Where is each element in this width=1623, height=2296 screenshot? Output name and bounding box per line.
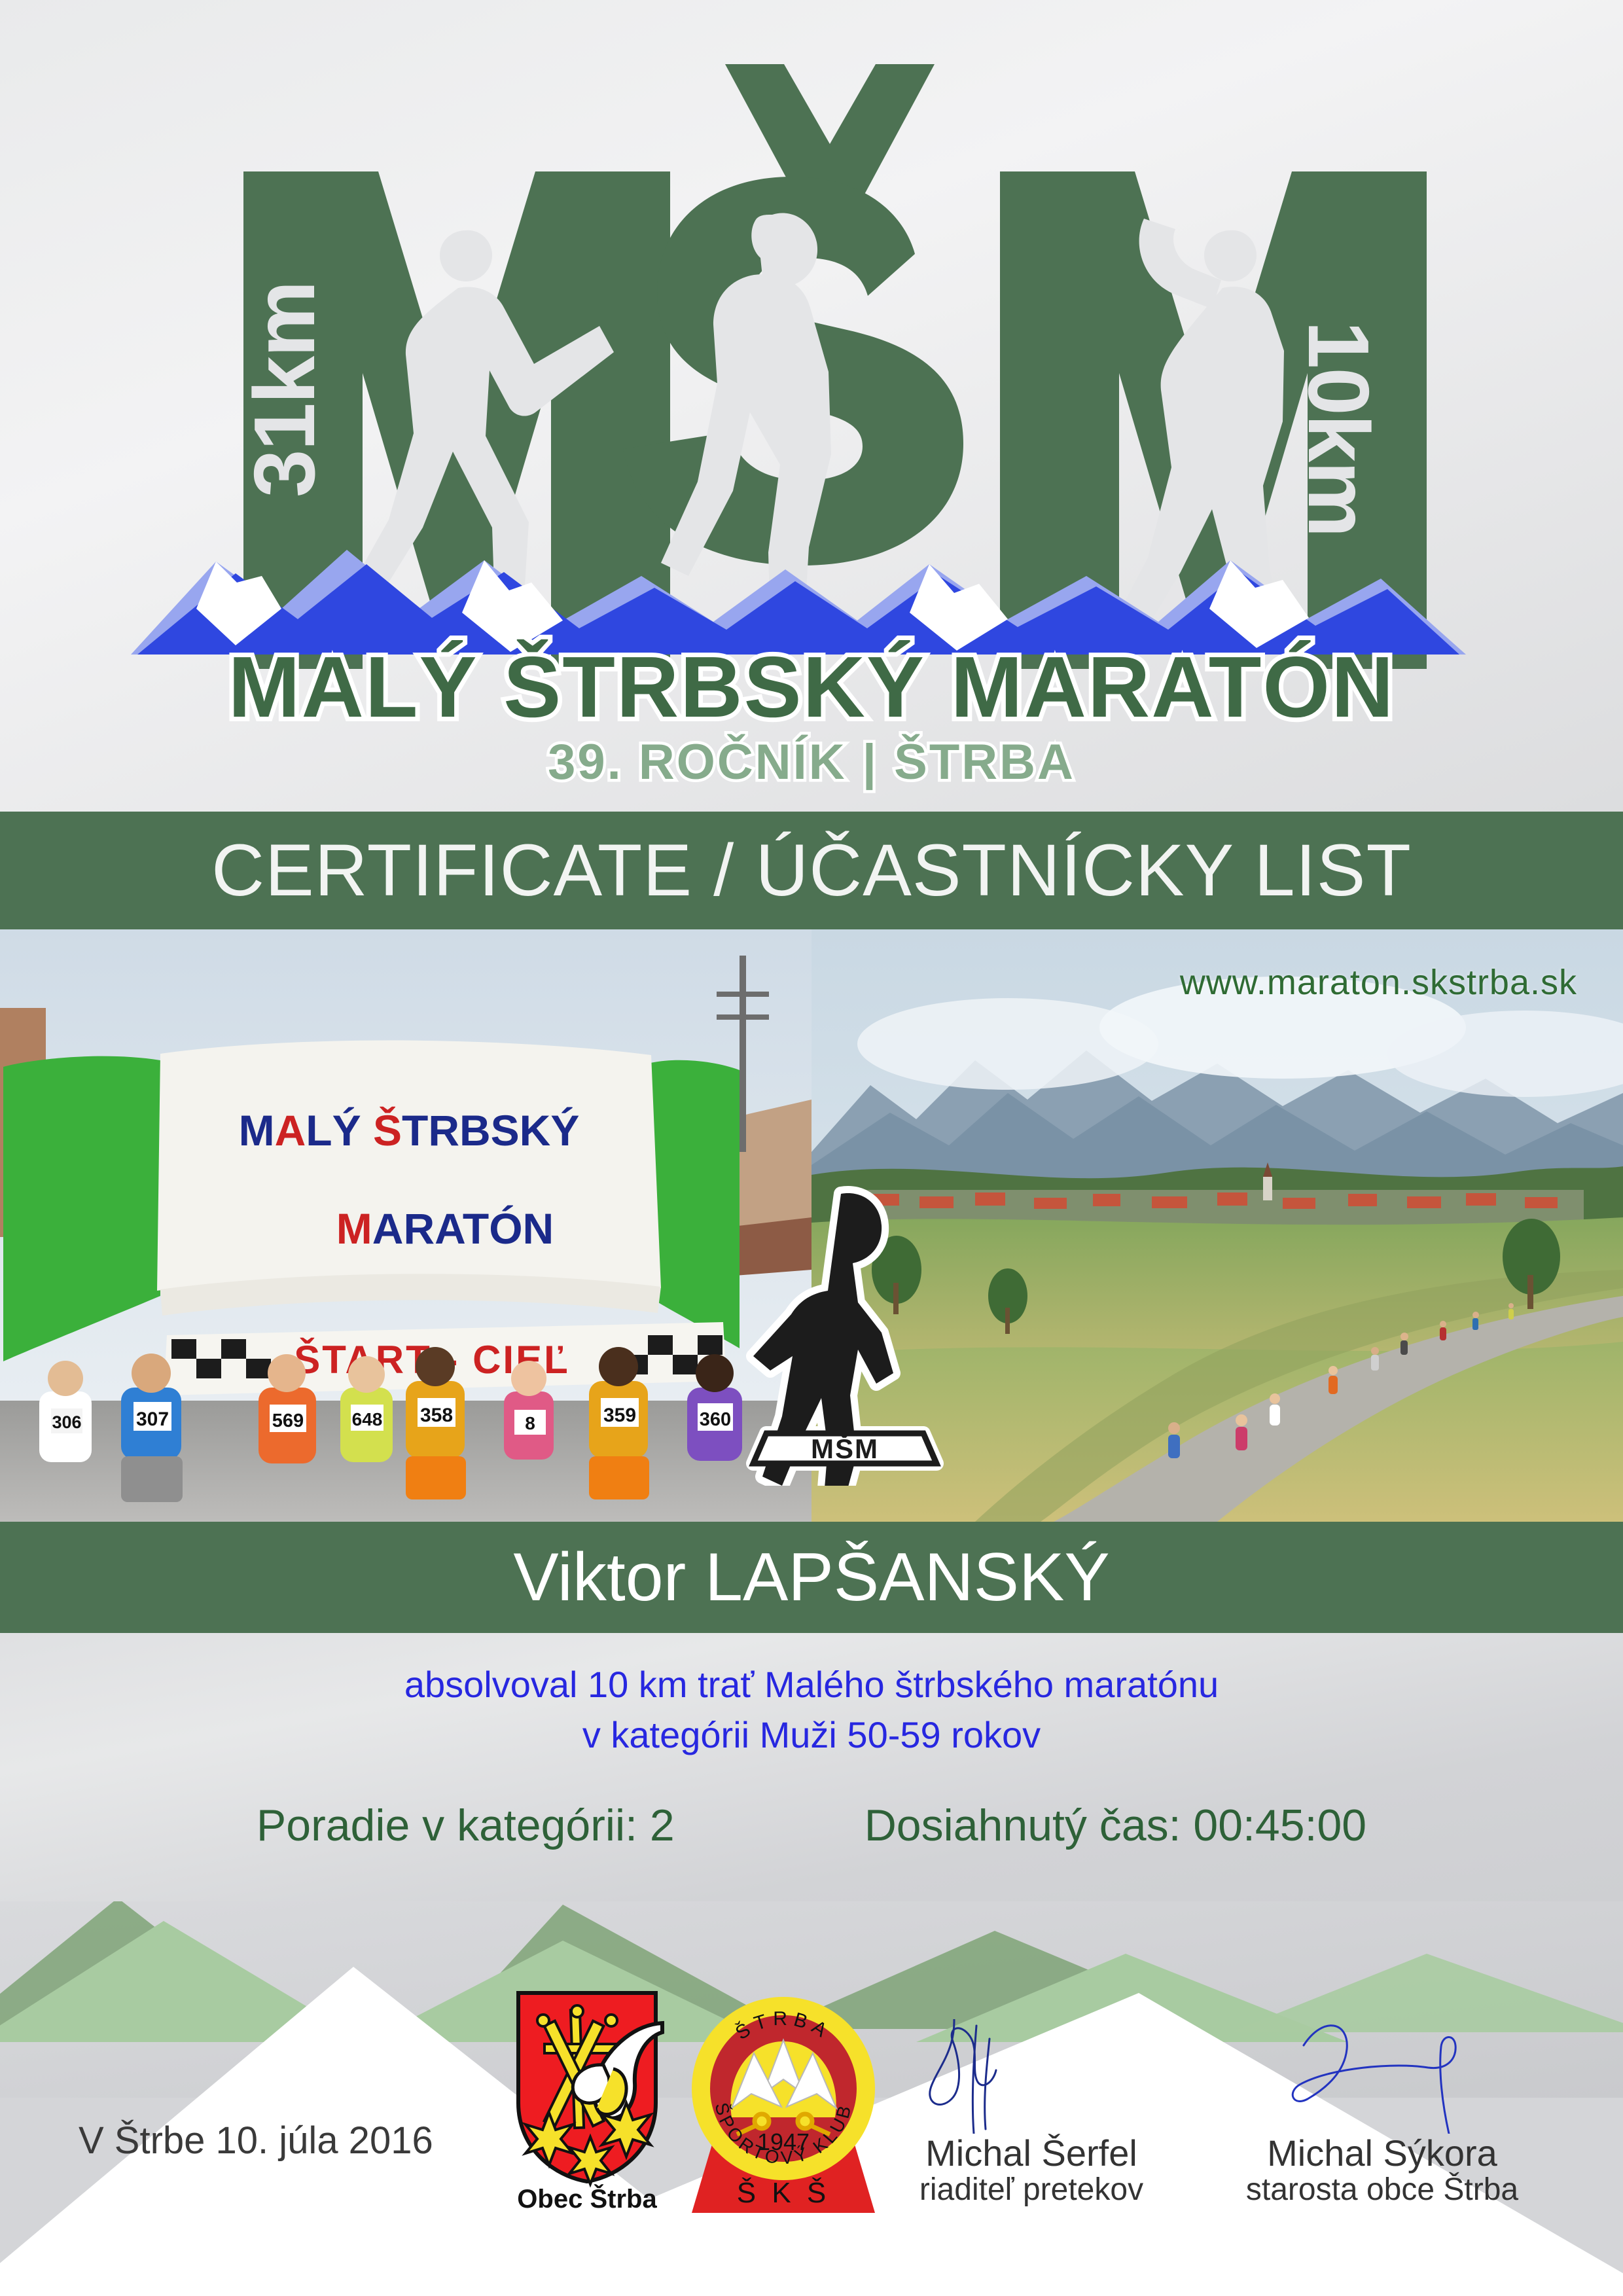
signature-role: riaditeľ pretekov	[861, 2173, 1202, 2208]
handwritten-signature-icon	[861, 2019, 1202, 2134]
sks-strba-club-emblem-icon: 1947 ŠTRBA ŠPORTOVÝ KLUB Š K Š	[688, 1985, 878, 2214]
website-url: www.maraton.skstrba.sk	[1180, 962, 1577, 1003]
sks-abbrev: Š K Š	[737, 2176, 830, 2209]
distance-right-label: 10km	[1291, 321, 1387, 537]
signature-role: starosta obce Štrba	[1212, 2173, 1552, 2208]
certificate-title-band: CERTIFICATE / ÚČASTNÍCKY LIST	[0, 812, 1623, 929]
svg-text:10km: 10km	[1291, 321, 1387, 537]
results-row: Poradie v kategórii: 2 Dosiahnutý čas: 0…	[0, 1800, 1623, 1851]
signature-block-mayor: Michal Sýkora starosta obce Štrba	[1212, 2019, 1552, 2208]
svg-text:31km: 31km	[236, 281, 332, 497]
bib-number: 358	[420, 1405, 453, 1426]
bib-number: 306	[52, 1412, 81, 1432]
description-line-1: absolvoval 10 km trať Malého štrbského m…	[0, 1659, 1623, 1710]
obec-strba-coat-of-arms-icon: Obec Štrba	[505, 1985, 669, 2214]
event-logo-block: 31km 10km MALÝ ŠTRBSKÝ MARATÓN 39. ROČNÍ…	[0, 0, 1623, 812]
event-subtitle: 39. ROČNÍK | ŠTRBA	[548, 734, 1075, 791]
bib-number: 359	[603, 1405, 636, 1426]
msm-cutout-label: MŠM	[811, 1433, 879, 1464]
description-line-2: v kategórii Muži 50-59 rokov	[0, 1710, 1623, 1760]
signature-block-director: Michal Šerfel riaditeľ pretekov	[861, 2019, 1202, 2208]
signature-name: Michal Sýkora	[1212, 2134, 1552, 2173]
bib-number: 8	[525, 1413, 535, 1433]
issue-date: V Štrbe 10. júla 2016	[79, 2119, 433, 2162]
bib-number: 307	[136, 1408, 169, 1430]
participation-description: absolvoval 10 km trať Malého štrbského m…	[0, 1659, 1623, 1761]
bib-number: 648	[352, 1409, 383, 1429]
msm-logo-graphic: 31km 10km MALÝ ŠTRBSKÝ MARATÓN 39. ROČNÍ…	[0, 0, 1623, 812]
signature-name: Michal Šerfel	[861, 2134, 1202, 2173]
arch-title-line2: MARATÓN	[336, 1204, 554, 1253]
handwritten-signature-icon	[1212, 2019, 1552, 2134]
certificate-footer: V Štrbe 10. júla 2016	[0, 1901, 1623, 2296]
participant-name: Viktor LAPŠANSKÝ	[513, 1543, 1109, 1611]
bib-number: 569	[272, 1410, 304, 1431]
event-title: MALÝ ŠTRBSKÝ MARATÓN	[228, 639, 1395, 735]
obec-strba-caption: Obec Štrba	[517, 2183, 657, 2214]
start-photo-illustration: MALÝ ŠTRBSKÝ MARATÓN ŠTART - CIEĽ	[0, 929, 811, 1522]
msm-cutout-runner-icon: MŠM	[743, 1172, 952, 1486]
distance-left-label: 31km	[236, 281, 332, 497]
participant-name-band: Viktor LAPŠANSKÝ	[0, 1522, 1623, 1633]
certificate-page: 31km 10km MALÝ ŠTRBSKÝ MARATÓN 39. ROČNÍ…	[0, 0, 1623, 2296]
start-line-photo: MALÝ ŠTRBSKÝ MARATÓN ŠTART - CIEĽ	[0, 929, 811, 1522]
category-rank: Poradie v kategórii: 2	[257, 1800, 675, 1851]
certificate-title: CERTIFICATE / ÚČASTNÍCKY LIST	[211, 834, 1412, 907]
arch-title-line1: MALÝ ŠTRBSKÝ	[239, 1106, 580, 1155]
finish-time: Dosiahnutý čas: 00:45:00	[865, 1800, 1366, 1851]
bib-number: 360	[700, 1409, 731, 1430]
